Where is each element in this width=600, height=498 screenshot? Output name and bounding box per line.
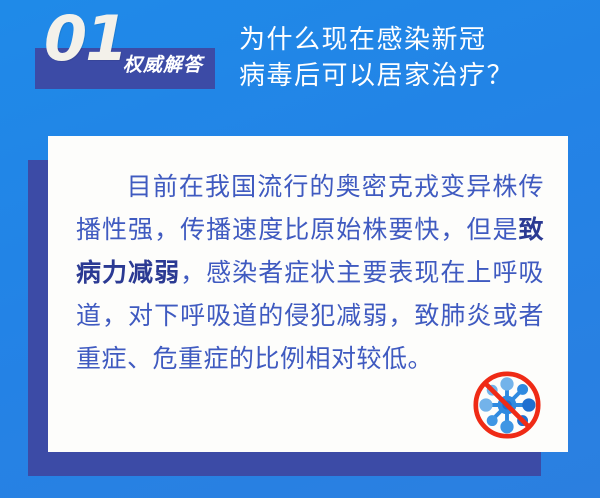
page-title-line-1: 为什么现在感染新冠 — [239, 21, 579, 57]
body-paragraph: 目前在我国流行的奥密克戎变异株传播性强，传播速度比原始株要快，但是致病力减弱，感… — [76, 166, 544, 381]
paragraph-part-1: 目前在我国流行的奥密克戎变异株传播性强，传播速度比原始株要快，但是 — [76, 173, 544, 244]
no-virus-icon — [468, 366, 546, 444]
page-title: 为什么现在感染新冠 病毒后可以居家治疗？ — [239, 21, 579, 93]
badge-label: 权威解答 — [123, 56, 203, 75]
page-title-line-2: 病毒后可以居家治疗？ — [239, 57, 579, 93]
badge-number: 01 — [44, 8, 126, 70]
content-card: 目前在我国流行的奥密克戎变异株传播性强，传播速度比原始株要快，但是致病力减弱，感… — [48, 136, 568, 452]
header-banner: 01 权威解答 为什么现在感染新冠 病毒后可以居家治疗？ — [0, 0, 600, 126]
